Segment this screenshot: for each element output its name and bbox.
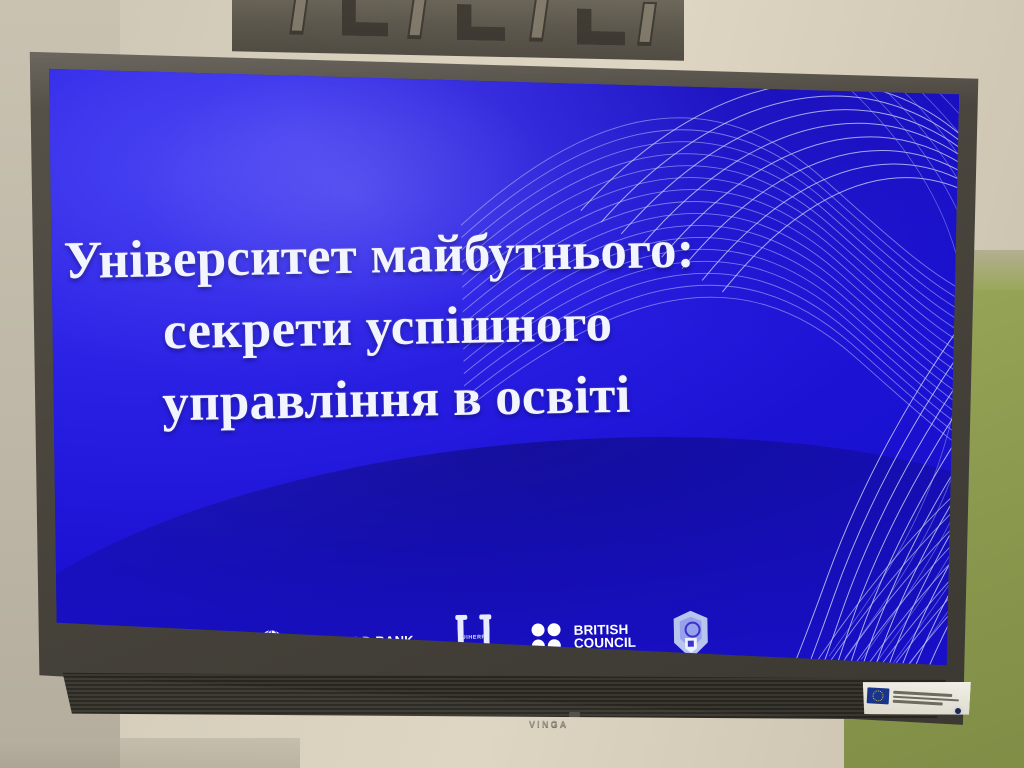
floor-strip — [0, 738, 300, 768]
uiherp-text: UIHERP — [454, 634, 494, 641]
sticker-text-lines — [893, 691, 966, 706]
shield-crest-icon — [674, 610, 709, 659]
slide-title-line-3: управління в освіті — [52, 357, 753, 442]
tv-screen[interactable]: Університет майбутнього: секрети успішно… — [24, 22, 986, 732]
logo-university-crest — [674, 610, 709, 659]
power-indicator-icon — [569, 712, 580, 717]
ir-sensor-icon — [955, 708, 961, 714]
slide-title-line-1: Університет майбутнього: — [49, 213, 750, 298]
british-council-text: BRITISH COUNCIL — [574, 622, 637, 650]
television[interactable]: Університет майбутнього: секрети успішно… — [24, 22, 986, 732]
slide-title-line-2: секрети успішного — [50, 285, 751, 370]
slide-title: Університет майбутнього: секрети успішно… — [49, 213, 753, 442]
tv-brand-label: VINGA — [529, 719, 569, 729]
eu-flag-icon — [867, 687, 890, 704]
eu-funding-sticker — [861, 676, 971, 720]
room-scene: Університет майбутнього: секрети успішно… — [0, 0, 1024, 768]
presentation-slide: Університет майбутнього: секрети успішно… — [24, 22, 986, 732]
